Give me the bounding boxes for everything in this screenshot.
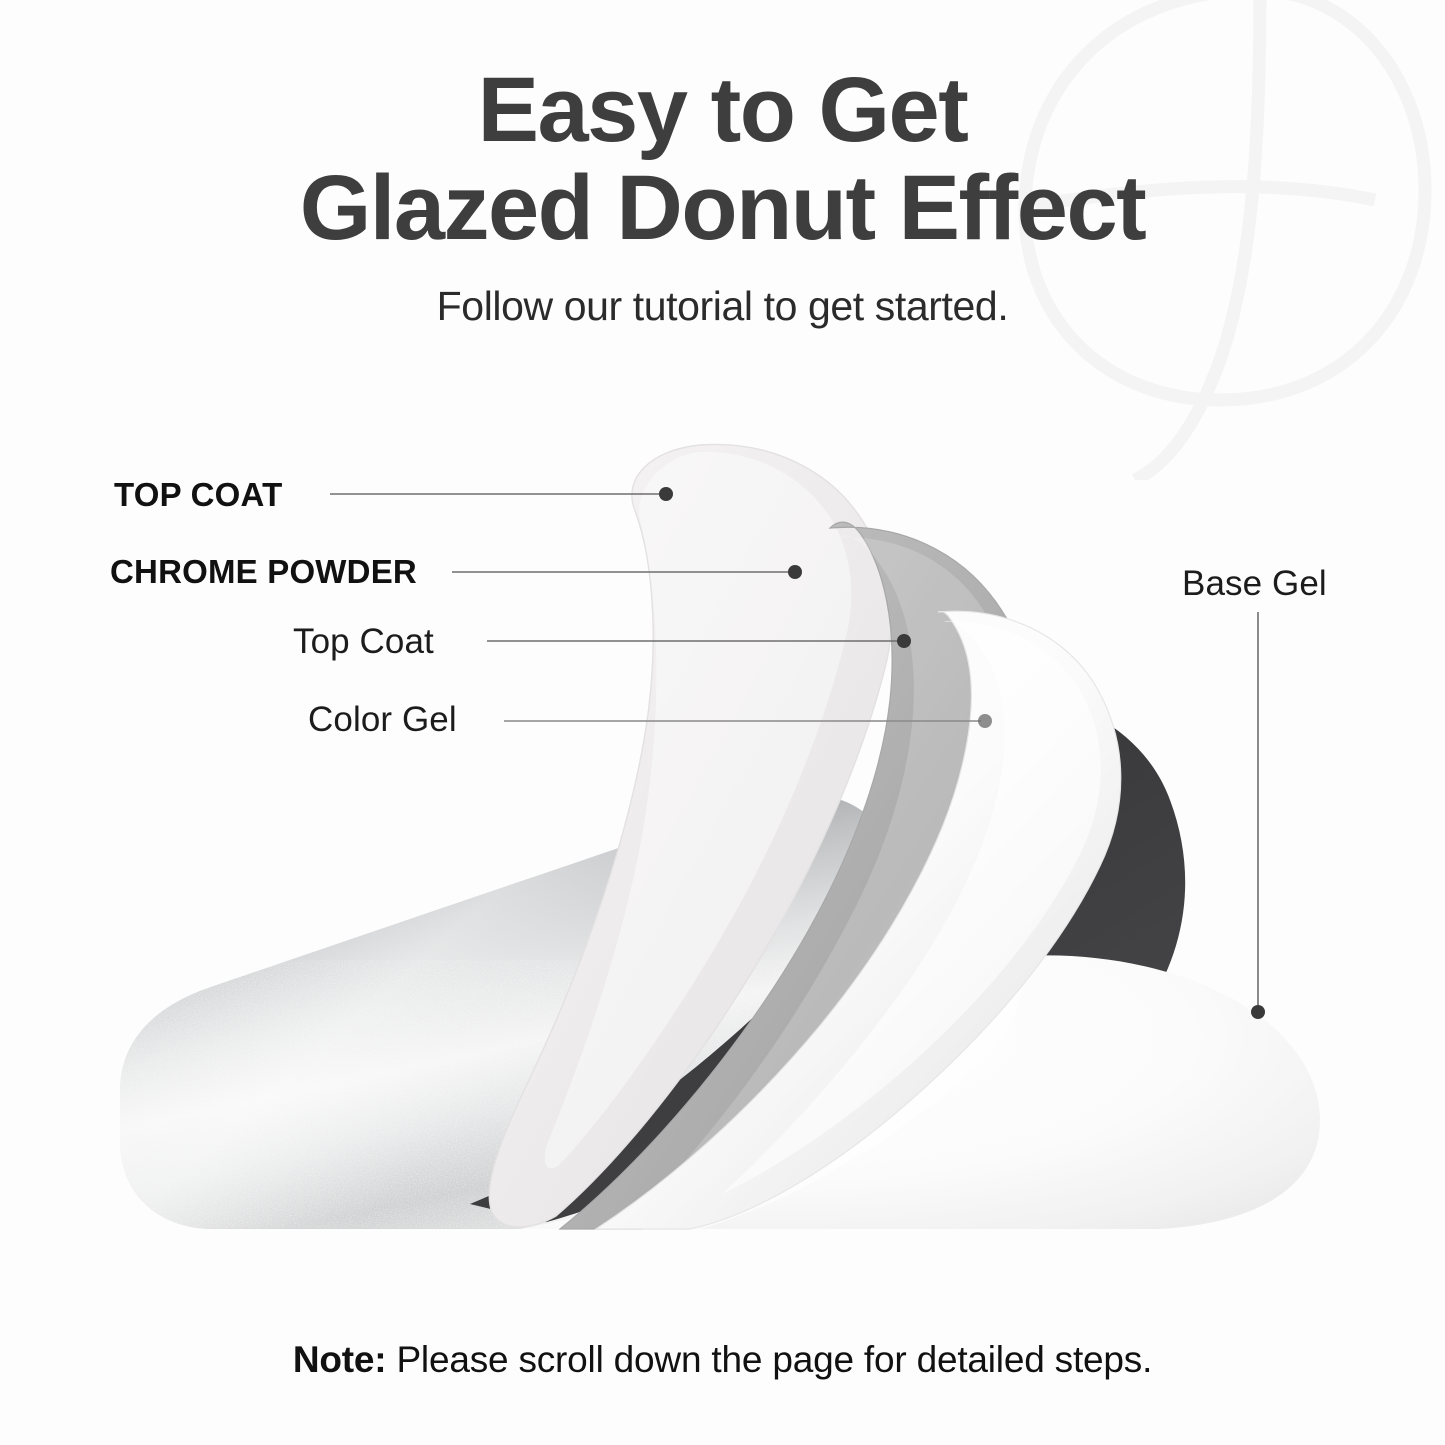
callout-dot-color-gel xyxy=(978,714,992,728)
chrome-base-layer xyxy=(100,794,1020,1250)
footer-note-prefix: Note: xyxy=(293,1339,387,1380)
promo-page: Easy to Get Glazed Donut Effect Follow o… xyxy=(0,0,1445,1445)
callout-label-base-gel: Base Gel xyxy=(1182,566,1327,601)
callout-label-top-coat-inner: Top Coat xyxy=(293,624,434,659)
callout-leader-lines xyxy=(330,494,1258,1007)
page-header: Easy to Get Glazed Donut Effect Follow o… xyxy=(0,62,1445,330)
footer-note: Note: Please scroll down the page for de… xyxy=(0,1339,1445,1381)
callout-label-top-coat-outer: TOP COAT xyxy=(114,478,282,511)
top-coat-outer-layer xyxy=(489,444,891,1226)
callout-label-chrome-powder: CHROME POWDER xyxy=(110,555,417,588)
page-title: Easy to Get Glazed Donut Effect xyxy=(0,62,1445,257)
callout-dots xyxy=(659,487,1265,1019)
callout-dot-base-gel xyxy=(1251,1005,1265,1019)
callout-dot-top-coat-bold xyxy=(659,487,673,501)
callout-label-color-gel: Color Gel xyxy=(308,702,457,737)
top-coat-inner-layer xyxy=(596,611,1121,1229)
color-gel-layer xyxy=(470,690,1185,1229)
page-subtitle: Follow our tutorial to get started. xyxy=(0,283,1445,330)
callout-dot-chrome-powder xyxy=(788,565,802,579)
callout-dot-top-coat xyxy=(897,634,911,648)
footer-note-text: Please scroll down the page for detailed… xyxy=(386,1339,1152,1380)
chrome-powder-layer xyxy=(560,522,1038,1229)
base-gel-layer xyxy=(520,955,1320,1229)
